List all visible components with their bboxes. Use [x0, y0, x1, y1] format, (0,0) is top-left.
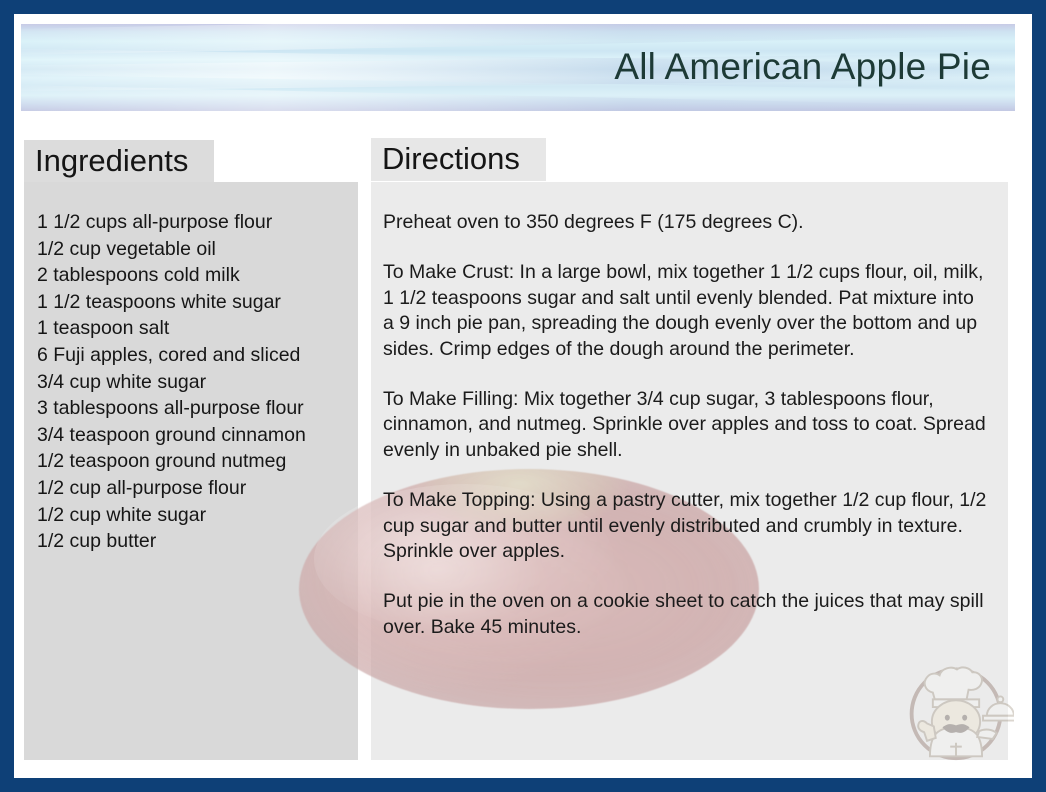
directions-panel: Preheat oven to 350 degrees F (175 degre…: [371, 182, 1008, 760]
ingredient-item: 3/4 cup white sugar: [37, 369, 358, 396]
ingredient-item: 1 teaspoon salt: [37, 315, 358, 342]
direction-step: To Make Topping: Using a pastry cutter, …: [383, 488, 990, 564]
ingredient-item: 1 1/2 cups all-purpose flour: [37, 209, 358, 236]
direction-step: To Make Filling: Mix together 3/4 cup su…: [383, 387, 990, 463]
recipe-card: All American Apple Pie Ingredients Direc…: [0, 0, 1046, 792]
ingredient-item: 6 Fuji apples, cored and sliced: [37, 342, 358, 369]
page-title: All American Apple Pie: [614, 46, 991, 88]
ingredient-item: 1 1/2 teaspoons white sugar: [37, 289, 358, 316]
direction-step: To Make Crust: In a large bowl, mix toge…: [383, 260, 990, 362]
directions-list: Preheat oven to 350 degrees F (175 degre…: [371, 182, 1008, 640]
direction-step: Put pie in the oven on a cookie sheet to…: [383, 589, 990, 640]
ingredient-item: 1/2 cup all-purpose flour: [37, 475, 358, 502]
ingredients-heading: Ingredients: [24, 140, 214, 183]
title-banner: All American Apple Pie: [21, 24, 1015, 111]
ingredient-item: 2 tablespoons cold milk: [37, 262, 358, 289]
ingredient-item: 1/2 teaspoon ground nutmeg: [37, 448, 358, 475]
direction-step: Preheat oven to 350 degrees F (175 degre…: [383, 210, 990, 235]
directions-heading: Directions: [371, 138, 546, 181]
ingredient-item: 1/2 cup butter: [37, 528, 358, 555]
ingredient-item: 1/2 cup vegetable oil: [37, 236, 358, 263]
ingredients-list: 1 1/2 cups all-purpose flour1/2 cup vege…: [24, 182, 358, 555]
page-sheet: All American Apple Pie Ingredients Direc…: [14, 14, 1032, 778]
ingredient-item: 1/2 cup white sugar: [37, 502, 358, 529]
ingredient-item: 3 tablespoons all-purpose flour: [37, 395, 358, 422]
ingredient-item: 3/4 teaspoon ground cinnamon: [37, 422, 358, 449]
ingredients-panel: 1 1/2 cups all-purpose flour1/2 cup vege…: [24, 182, 358, 760]
